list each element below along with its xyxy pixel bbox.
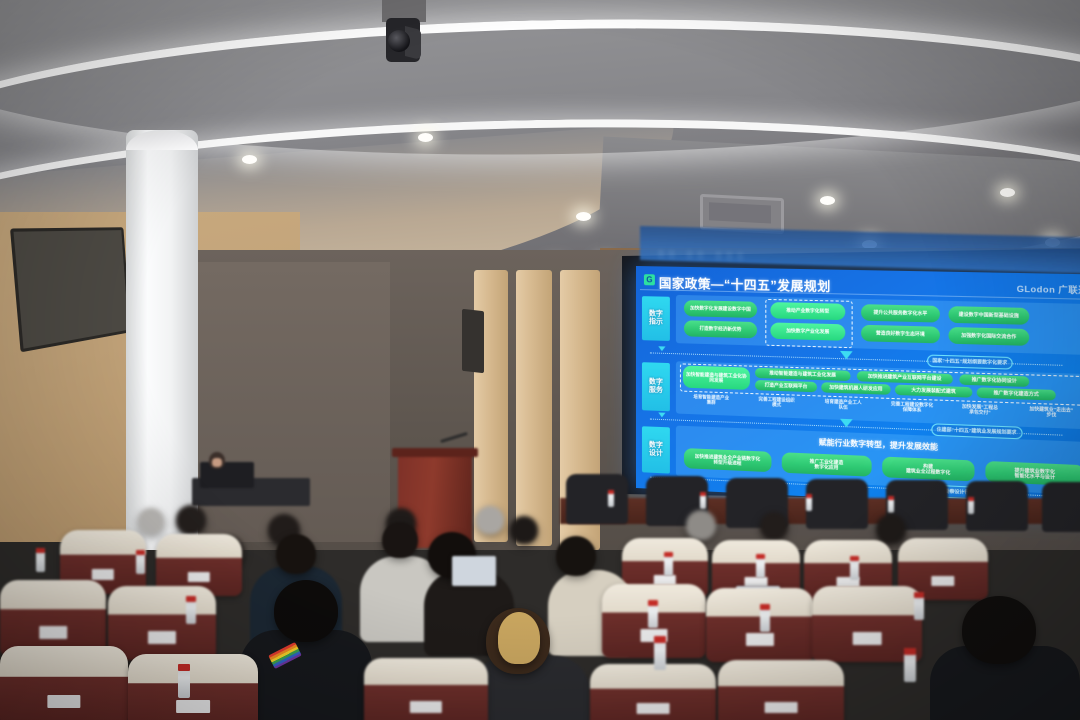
glodon-logo-icon: G — [644, 274, 655, 285]
water-bottle — [756, 554, 765, 578]
audience-head — [556, 536, 596, 576]
audience-body-foreground — [240, 630, 372, 720]
water-bottle — [914, 592, 924, 620]
wall-slat — [516, 270, 552, 546]
auditorium-seat — [108, 586, 216, 660]
executive-chair — [966, 481, 1028, 531]
auditorium-seat — [718, 660, 844, 720]
water-bottle — [178, 664, 190, 698]
executive-chair — [1042, 482, 1080, 532]
presentation-slide[interactable]: G 国家政策—“十四五”发展规划 GLodon 广联达 数字 指示 加快数字化发… — [636, 266, 1080, 510]
policy-box[interactable]: 构建 建筑业全过程数字化 — [882, 457, 974, 482]
control-desk-monitor — [200, 462, 254, 488]
operator-face — [212, 458, 222, 467]
audience-head — [176, 505, 206, 535]
water-bottle — [36, 548, 45, 572]
audience-head-foreground — [274, 580, 338, 642]
audience-head — [476, 506, 504, 534]
downlight — [418, 133, 433, 142]
audience-head — [760, 512, 788, 540]
auditorium-seat — [590, 664, 716, 720]
audience-head — [382, 522, 418, 558]
audience-hair-highlight — [498, 612, 540, 664]
sub-label: 培育建造产业工人 队伍 — [813, 398, 874, 410]
water-bottle — [654, 636, 666, 670]
policy-box[interactable]: 加强数字化国际交流合作 — [949, 327, 1030, 346]
auditorium-seat — [128, 654, 258, 720]
water-bottle — [760, 604, 770, 632]
water-bottle — [664, 552, 673, 576]
water-bottle — [888, 496, 894, 513]
sub-label: 完善工程建设组织 模式 — [747, 396, 807, 408]
water-bottle — [904, 648, 916, 682]
structural-column — [126, 130, 198, 550]
policy-box[interactable]: 加快数字化发展建设数字中国 — [684, 300, 757, 318]
downlight — [820, 196, 835, 205]
flow-arrow — [658, 346, 665, 351]
flow-arrow — [840, 419, 853, 428]
auditorium-seat — [0, 580, 106, 656]
policy-box[interactable]: 打造产业互联网平台 — [755, 380, 817, 392]
flow-arrow — [658, 412, 665, 417]
auditorium-seat — [364, 658, 488, 720]
audience-head — [686, 510, 716, 540]
water-bottle — [648, 600, 658, 628]
auditorium-scene: ░░ ░░ ░░░ G 国家政策—“十四五”发展规划 GLodon 广联达 数字… — [0, 0, 1080, 720]
audience-head-foreground — [962, 596, 1036, 664]
brand-logo: GLodon 广联达 — [1017, 282, 1080, 296]
policy-box[interactable]: 推动产业数字化转型 — [770, 302, 845, 320]
policy-box[interactable]: 加快数字产业化发展 — [770, 322, 845, 340]
section-label-1: 数字 指示 — [642, 296, 670, 341]
podium-top — [392, 448, 478, 457]
policy-box[interactable]: 推广工业化建造 数字化应用 — [782, 452, 872, 476]
policy-box[interactable]: 打造数字经济新优势 — [684, 320, 757, 338]
executive-chair — [566, 474, 628, 524]
audience-head — [876, 514, 906, 544]
water-bottle — [136, 550, 145, 574]
camera-lens-icon — [388, 30, 410, 52]
policy-box[interactable]: 营造良好数字生态环境 — [861, 325, 940, 344]
policy-box[interactable]: 加快推进建筑业全产业链数字化 转型升级进程 — [684, 448, 772, 472]
wall-mounted-monitor — [10, 227, 131, 352]
auditorium-seat — [0, 646, 128, 720]
downlight — [576, 212, 591, 221]
executive-chair — [806, 479, 868, 529]
water-bottle — [700, 492, 706, 509]
wall-speaker — [462, 309, 484, 373]
laptop[interactable] — [452, 556, 496, 586]
downlight — [242, 155, 257, 164]
flow-arrow — [840, 351, 853, 360]
water-bottle — [806, 494, 812, 511]
section-label-3: 数字 设计 — [642, 426, 670, 473]
section-label-2: 数字 服务 — [642, 362, 670, 411]
water-bottle — [608, 490, 614, 507]
section-tag-1: 国家“十四五”规划纲要数字化要求 — [927, 354, 1013, 369]
audience-head — [138, 508, 164, 534]
policy-box[interactable]: 提升公共服务数字化水平 — [861, 304, 940, 322]
policy-box[interactable]: 加快智能建造与建筑工业化协同发展 — [683, 365, 750, 389]
downlight — [1000, 188, 1015, 197]
audience-head — [276, 534, 316, 574]
sub-label: 培育智能建造产业 集群 — [682, 394, 741, 406]
water-bottle — [968, 497, 974, 514]
audience-head — [510, 516, 538, 544]
policy-box[interactable]: 建设数字中国新型基础设施 — [949, 306, 1030, 325]
water-bottle — [850, 556, 859, 580]
water-bottle — [186, 596, 196, 624]
